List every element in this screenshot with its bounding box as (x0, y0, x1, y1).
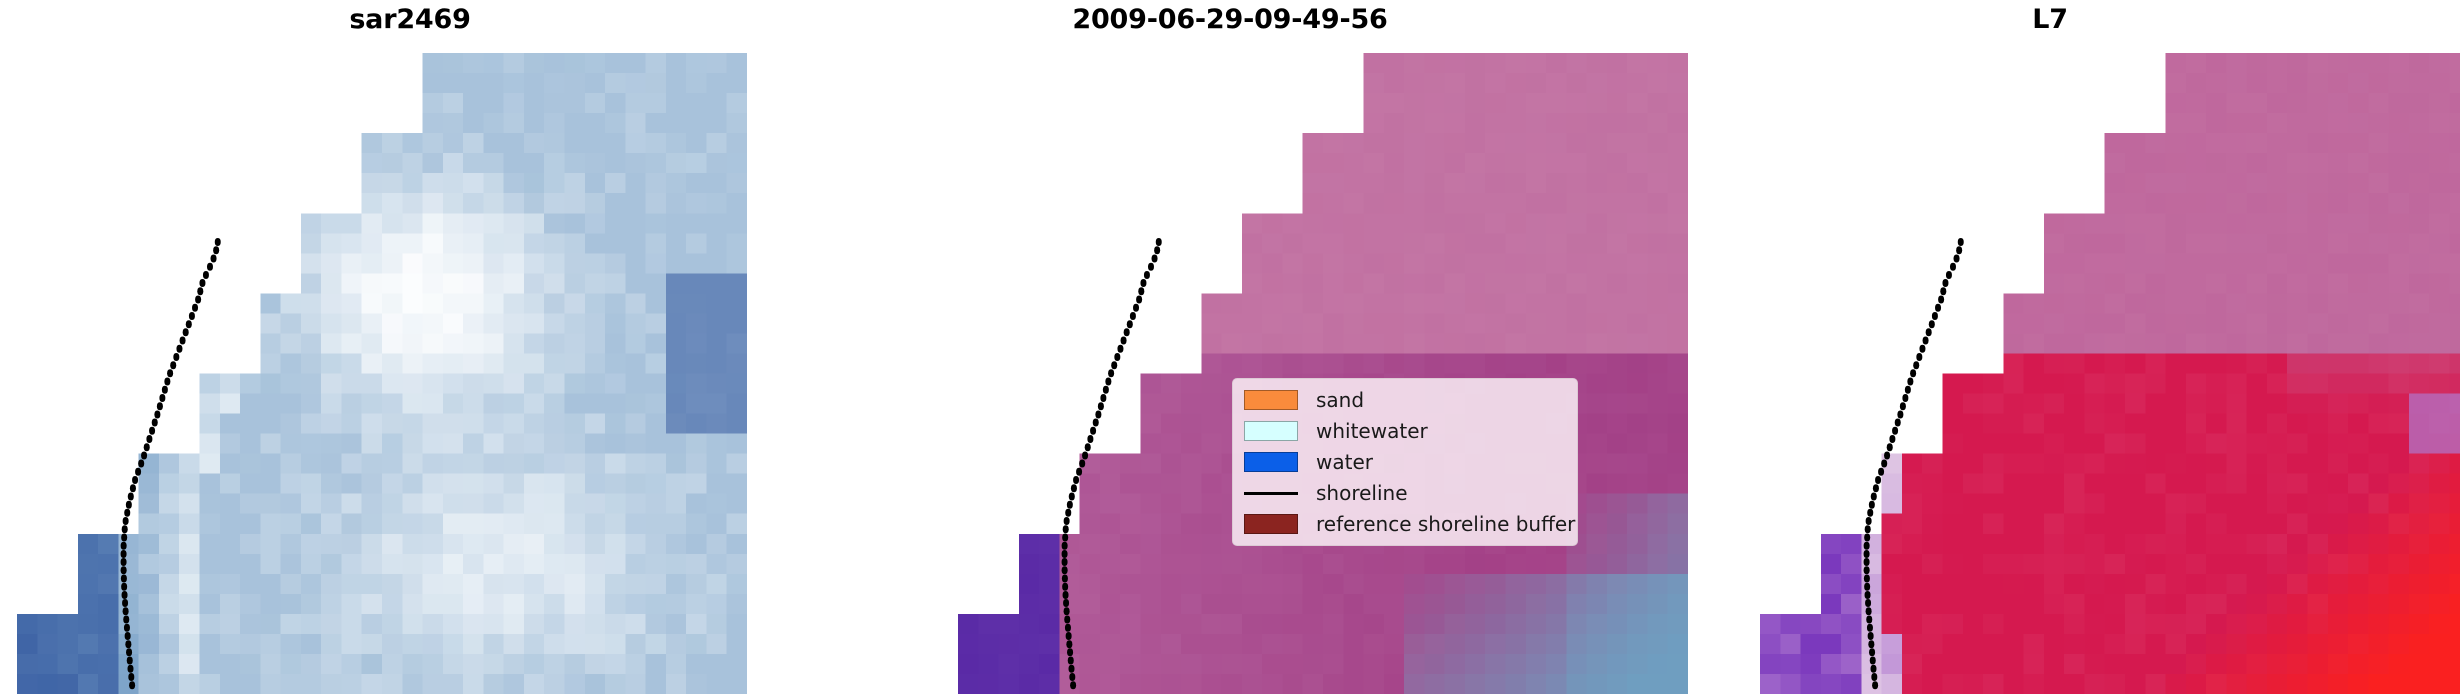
figure-root: sar2469 2009-06-29-09-49-56 L7 sand whit… (0, 0, 2460, 700)
panel-sar2469: sar2469 (0, 0, 820, 700)
legend-label-shoreline: shoreline (1316, 483, 1408, 503)
panel-2009-06-29-09-49-56: 2009-06-29-09-49-56 (820, 0, 1640, 700)
legend-swatch-whitewater-icon (1244, 421, 1298, 441)
legend-label-sand: sand (1316, 390, 1364, 410)
panel-title-1: sar2469 (0, 4, 820, 35)
legend-label-reference-shoreline-buffer: reference shoreline buffer (1316, 514, 1575, 534)
panel-title-3: L7 (1640, 4, 2460, 35)
legend-label-whitewater: whitewater (1316, 421, 1428, 441)
shoreline-overlay (17, 53, 747, 694)
legend-item-whitewater: whitewater (1244, 419, 1566, 443)
legend-item-sand: sand (1244, 388, 1566, 412)
legend-swatch-sand-icon (1244, 390, 1298, 410)
legend: sand whitewater water shoreline referenc… (1232, 378, 1578, 546)
legend-item-shoreline: shoreline (1244, 481, 1566, 505)
legend-swatch-reference-buffer-icon (1244, 514, 1298, 534)
legend-item-water: water (1244, 450, 1566, 474)
panel-l7: L7 (1640, 0, 2460, 700)
shoreline-overlay (1760, 53, 2460, 694)
legend-swatch-shoreline-icon (1244, 483, 1298, 503)
legend-label-water: water (1316, 452, 1373, 472)
shoreline-overlay (958, 53, 1688, 694)
legend-swatch-water-icon (1244, 452, 1298, 472)
legend-item-reference-shoreline-buffer: reference shoreline buffer (1244, 512, 1566, 536)
panel-title-2: 2009-06-29-09-49-56 (820, 4, 1640, 35)
